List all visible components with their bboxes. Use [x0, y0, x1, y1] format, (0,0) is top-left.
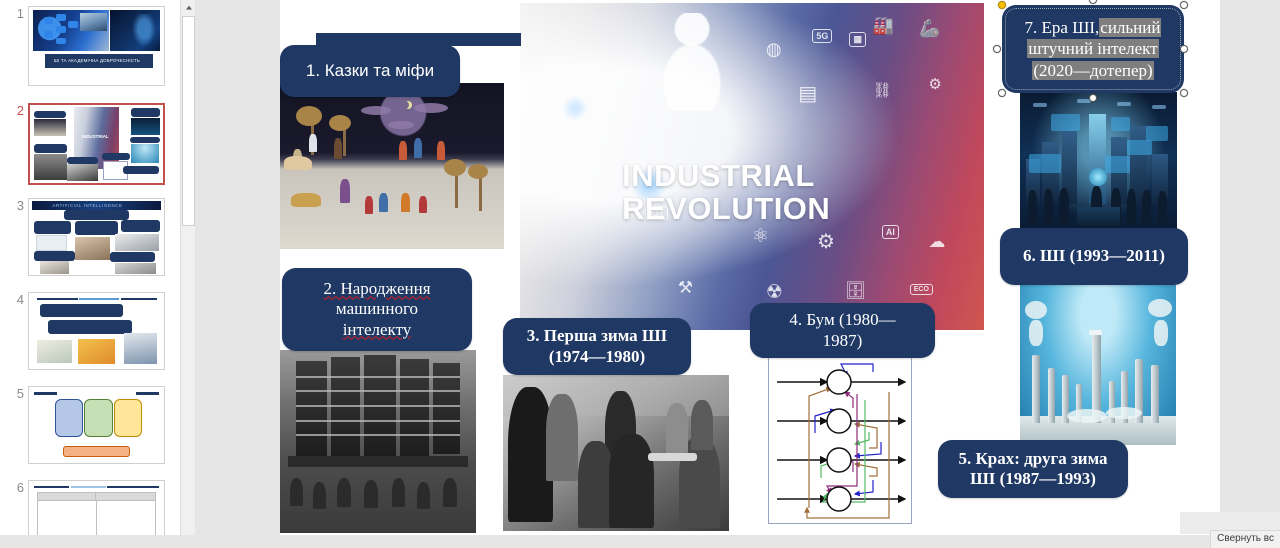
icon-person-alert: ◍	[766, 39, 782, 60]
powerpoint-window: 1 ШІ ТА АКАДЕМІЧНА ДОБРОЧЕСНІСТЬ	[0, 0, 1280, 548]
callout-card-1-text: 1. Казки та міфи	[296, 57, 444, 85]
resize-handle-top[interactable]	[1089, 0, 1097, 4]
callout-card-4-text: 4. Бум (1980— 1987)	[779, 306, 905, 354]
card4-line2: 1987)	[823, 331, 863, 350]
callout-card-2[interactable]: 2. Народження машинного інтелекту	[282, 268, 472, 351]
scrollbar-thumb[interactable]	[182, 16, 195, 226]
callout-card-3[interactable]: 3. Перша зима ШІ (1974—1980)	[503, 318, 691, 375]
industrial-revolution-image[interactable]: 5G ▦ ◍ 🏭 🦾 ▤ ⛓ ⚙ IOT ⚛ ⚙ AI ☁ ⚒ ☢ 🗄 ECO …	[520, 3, 984, 330]
icon-chart-laptop: ▤	[798, 81, 817, 106]
greek-columns-image[interactable]	[1020, 285, 1176, 445]
icon-chip: ▦	[849, 32, 866, 47]
thumb1-ai-hex-image	[33, 10, 109, 51]
resize-handle-bottom-right[interactable]	[1180, 89, 1188, 97]
industrial-title: INDUSTRIAL REVOLUTION	[622, 160, 830, 225]
thumbnail-number-1: 1	[4, 6, 24, 21]
card7-selected-1: сильний	[1099, 18, 1161, 37]
icon-database: 🗄	[845, 281, 867, 301]
card2-line2: машинного	[336, 299, 418, 318]
card2-line1: 2. Народження	[323, 279, 430, 298]
icon-robot-arm: 🦾	[919, 19, 940, 39]
icon-5g: 5G	[812, 29, 832, 43]
drone-icon-3	[1117, 102, 1131, 106]
thumbnail-number-5: 5	[4, 386, 24, 401]
industrial-title-line2: REVOLUTION	[622, 191, 830, 226]
ai-city-image[interactable]	[1020, 92, 1177, 232]
thumbnail-canvas-1[interactable]: ШІ ТА АКАДЕМІЧНА ДОБРОЧЕСНІСТЬ	[28, 6, 165, 86]
icon-gear: ⚙	[817, 229, 835, 254]
chevron-up-icon	[186, 5, 192, 9]
icon-eco: ECO	[910, 284, 933, 295]
crescent-moon	[401, 101, 409, 109]
slide-canvas[interactable]: 5G ▦ ◍ 🏭 🦾 ▤ ⛓ ⚙ IOT ⚛ ⚙ AI ☁ ⚒ ☢ 🗄 ECO …	[280, 0, 1220, 535]
light-flare-2	[562, 95, 588, 121]
collapse-tooltip: Свернуть вс	[1210, 530, 1280, 548]
callout-card-7-text: 7. Ера ШІ,сильний штучний інтелект (2020…	[1025, 17, 1162, 81]
resize-handle-bottom-left[interactable]	[998, 89, 1006, 97]
scrollbar-track[interactable]	[181, 226, 196, 533]
callout-card-4[interactable]: 4. Бум (1980— 1987)	[750, 303, 935, 358]
drone-icon	[1033, 103, 1047, 107]
scroll-up-button[interactable]	[181, 0, 196, 15]
thumbnail-canvas-2[interactable]	[28, 103, 165, 185]
slide-thumbnail-pane[interactable]: 1 ШІ ТА АКАДЕМІЧНА ДОБРОЧЕСНІСТЬ	[0, 0, 180, 548]
icon-network-tree: ⛓	[873, 81, 892, 99]
thumbnail-canvas-5[interactable]	[28, 386, 165, 464]
lion-figure	[291, 193, 321, 207]
icon-factory: 🏭	[873, 16, 894, 36]
callout-card-3-text: 3. Перша зима ШІ (1974—1980)	[517, 322, 677, 370]
icon-ai: AI	[882, 225, 899, 239]
ai-winter-meeting-photo[interactable]	[503, 375, 729, 531]
thumb5-result-box	[63, 446, 131, 457]
callout-card-5[interactable]: 5. Крах: друга зима ШІ (1987—1993)	[938, 440, 1128, 498]
robot-silhouette	[641, 13, 743, 111]
drone-icon-4	[1152, 105, 1166, 109]
resize-handle-top-right[interactable]	[1180, 1, 1188, 9]
card7-selected-2: штучний інтелект	[1027, 39, 1158, 58]
icon-cloud-data: ☁	[928, 232, 945, 252]
icon-gears-small: ⚙	[928, 75, 941, 93]
card7-prefix: 7. Ера ШІ,	[1025, 18, 1100, 37]
card5-line1: 5. Крах: друга зима	[958, 449, 1107, 468]
card3-line1: 3. Перша зима ШІ	[527, 326, 667, 345]
thumbnail-canvas-4[interactable]	[28, 292, 165, 370]
card2-line3: інтелекту	[343, 320, 412, 339]
card5-line2: ШІ (1987—1993)	[970, 469, 1096, 488]
callout-card-2-text: 2. Народження машинного інтелекту	[313, 275, 440, 343]
callout-card-7[interactable]: 7. Ера ШІ,сильний штучний інтелект (2020…	[1002, 5, 1184, 93]
icon-tools: ⚒	[678, 278, 693, 298]
industrial-title-line1: INDUSTRIAL	[622, 158, 815, 193]
resize-handle-right[interactable]	[1180, 45, 1188, 53]
resize-handle-bottom[interactable]	[1089, 94, 1097, 102]
callout-card-1[interactable]: 1. Казки та міфи	[280, 45, 460, 97]
thumb1-face-scan-image	[110, 10, 160, 51]
callout-card-5-text: 5. Крах: друга зима ШІ (1987—1993)	[948, 445, 1117, 493]
card3-line2: (1974—1980)	[549, 347, 645, 366]
thumb1-title-text: ШІ ТА АКАДЕМІЧНА ДОБРОЧЕСНІСТЬ	[45, 58, 140, 63]
card4-line1: 4. Бум (1980—	[789, 310, 895, 329]
card7-selected-3: (2020—дотепер)	[1032, 61, 1153, 80]
callout-card-6-text: 6. ШІ (1993—2011)	[1013, 242, 1175, 270]
thumbnail-number-2: 2	[4, 103, 24, 118]
left-gutter	[195, 0, 280, 548]
icon-molecule: ⚛	[752, 225, 769, 248]
nn-svg	[769, 358, 912, 524]
thumbnail-canvas-3[interactable]	[28, 198, 165, 276]
thumbnail-number-3: 3	[4, 198, 24, 213]
thumbnail-number-4: 4	[4, 292, 24, 307]
neural-network-diagram[interactable]	[768, 357, 912, 524]
resize-handle-left[interactable]	[993, 45, 1001, 53]
thumb1-title-bar: ШІ ТА АКАДЕМІЧНА ДОБРОЧЕСНІСТЬ	[45, 54, 153, 68]
horse-figure	[284, 156, 312, 170]
thumbnail-pane-scrollbar[interactable]	[180, 0, 195, 548]
slide-white-overlay	[280, 0, 520, 32]
status-bar	[0, 535, 1280, 548]
thumbnail-number-6: 6	[4, 480, 24, 495]
icon-radiation: ☢	[766, 281, 783, 304]
callout-card-7-selection[interactable]: 7. Ера ШІ,сильний штучний інтелект (2020…	[1002, 5, 1184, 93]
persian-miniature-image[interactable]	[280, 83, 504, 249]
rotate-handle[interactable]	[998, 1, 1006, 9]
mainframe-computer-image[interactable]	[280, 350, 476, 533]
callout-card-6[interactable]: 6. ШІ (1993—2011)	[1000, 228, 1188, 285]
right-gutter	[1220, 0, 1280, 535]
